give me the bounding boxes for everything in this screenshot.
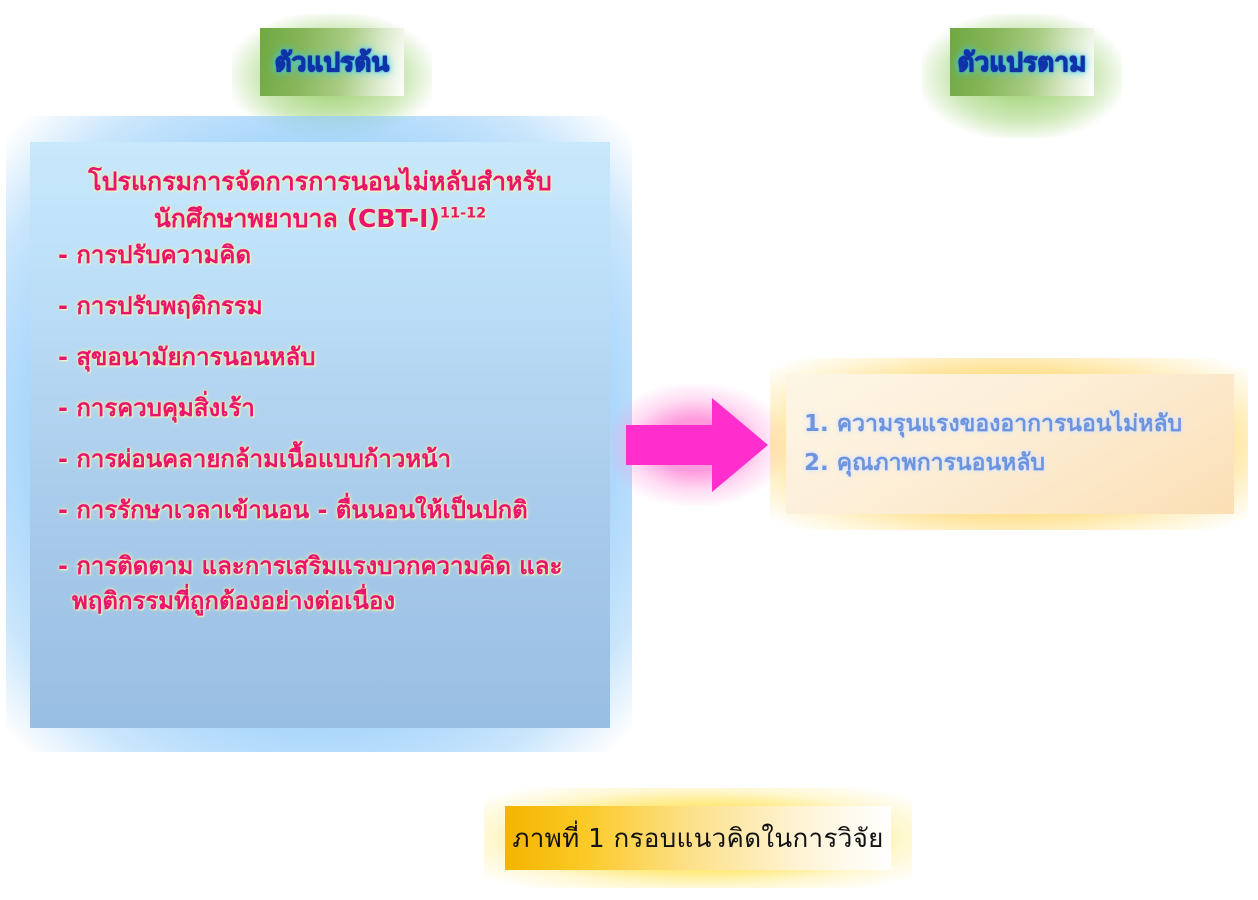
flow-arrow bbox=[612, 384, 786, 506]
program-item-multiline: - การติดตาม และการเสริมแรงบวกความคิด และ… bbox=[58, 549, 596, 619]
program-item-line-2: พฤติกรรมที่ถูกต้องอย่างต่อเนื่อง bbox=[58, 584, 395, 619]
program-item: - การปรับความคิด bbox=[58, 243, 596, 267]
figure-caption-text: ภาพที่ 1 กรอบแนวคิดในการวิจัย bbox=[512, 818, 883, 859]
program-item: - การปรับพฤติกรรม bbox=[58, 294, 596, 318]
dependent-variable-label: ตัวแปรตาม bbox=[922, 14, 1122, 138]
outcome-item: 2. คุณภาพการนอนหลับ bbox=[804, 452, 1216, 475]
outcome-box-glow: 1. ความรุนแรงของอาการนอนไม่หลับ 2. คุณภา… bbox=[770, 358, 1248, 530]
dependent-variable-chip-fill: ตัวแปรตาม bbox=[950, 28, 1094, 96]
program-title-line-2: นักศึกษาพยาบาล (CBT-I) bbox=[154, 204, 440, 233]
figure-caption-box: ภาพที่ 1 กรอบแนวคิดในการวิจัย bbox=[505, 806, 891, 870]
program-item-list: - การปรับความคิด - การปรับพฤติกรรม - สุข… bbox=[44, 243, 596, 619]
program-item: - สุขอนามัยการนอนหลับ bbox=[58, 345, 596, 369]
program-item: - การควบคุมสิ่งเร้า bbox=[58, 396, 596, 420]
program-box-glow: โปรแกรมการจัดการการนอนไม่หลับสำหรับ นักศ… bbox=[6, 116, 632, 752]
program-item-line-1: - การติดตาม และการเสริมแรงบวกความคิด และ bbox=[58, 552, 562, 580]
program-box: โปรแกรมการจัดการการนอนไม่หลับสำหรับ นักศ… bbox=[30, 142, 610, 728]
dependent-variable-label-text: ตัวแปรตาม bbox=[958, 42, 1087, 83]
figure-caption-glow: ภาพที่ 1 กรอบแนวคิดในการวิจัย bbox=[484, 788, 912, 888]
program-item: - การผ่อนคลายกล้ามเนื้อแบบก้าวหน้า bbox=[58, 447, 596, 471]
outcome-item: 1. ความรุนแรงของอาการนอนไม่หลับ bbox=[804, 413, 1216, 436]
program-title-line-1: โปรแกรมการจัดการการนอนไม่หลับสำหรับ bbox=[88, 167, 552, 196]
program-title: โปรแกรมการจัดการการนอนไม่หลับสำหรับ นักศ… bbox=[44, 164, 596, 237]
independent-variable-chip-fill: ตัวแปรต้น bbox=[260, 28, 404, 96]
program-title-superscript: 11-12 bbox=[440, 205, 486, 221]
independent-variable-label-text: ตัวแปรต้น bbox=[275, 42, 390, 83]
right-arrow-icon bbox=[626, 398, 768, 492]
outcome-box: 1. ความรุนแรงของอาการนอนไม่หลับ 2. คุณภา… bbox=[786, 374, 1234, 514]
program-item: - การรักษาเวลาเข้านอน - ตื่นนอนให้เป็นปก… bbox=[58, 498, 596, 522]
